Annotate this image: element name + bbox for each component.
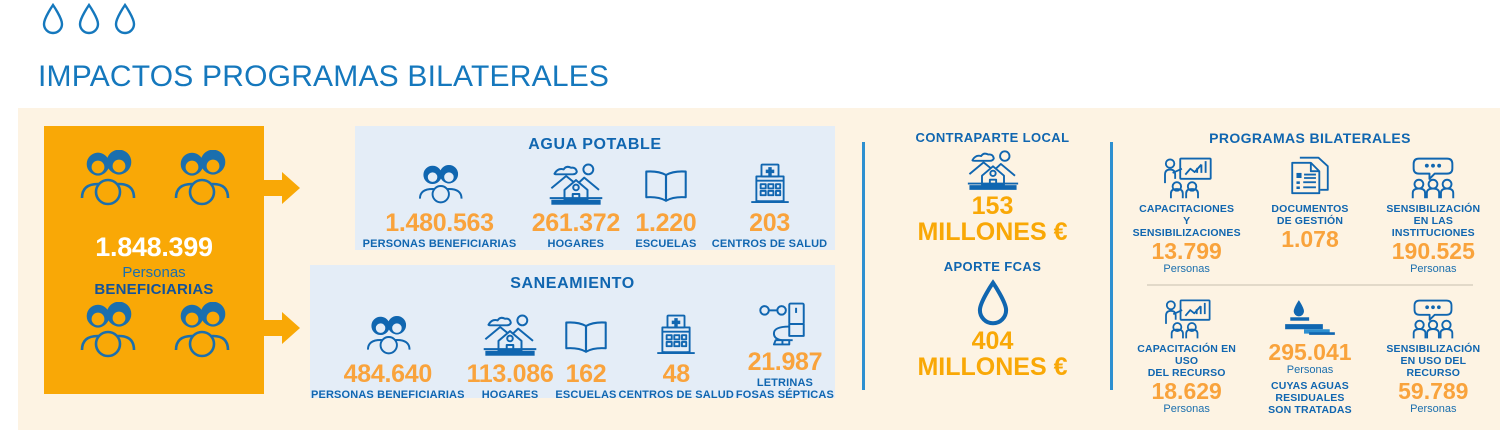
saneamiento-columns: 484.640 PERSONAS BENEFICIARIAS — [310, 299, 835, 402]
training-presentation-icon — [1159, 294, 1215, 340]
contraparte-unit: MILLONES € — [880, 219, 1105, 245]
family-people-icon — [162, 150, 240, 215]
stat-agua-hogares: 261.372 HOGARES — [532, 160, 620, 250]
speech-group-icon — [1406, 154, 1460, 200]
stat-label-line2: FOSAS SÉPTICAS — [736, 389, 834, 401]
open-book-icon — [642, 160, 690, 208]
aporte-amount: 404 — [880, 328, 1105, 354]
stat-value: 113.086 — [467, 361, 554, 388]
bilateral-value: 59.789 — [1398, 379, 1468, 403]
stat-label: PERSONAS BENEFICIARIAS — [363, 238, 517, 250]
panel-title-agua: AGUA POTABLE — [355, 136, 835, 154]
bilateral-value: 13.799 — [1151, 239, 1221, 263]
documents-icon — [1288, 154, 1332, 200]
label-line1: SENSIBILIZACIÓN — [1386, 343, 1480, 355]
bilateral-separator — [1147, 284, 1473, 286]
bilateral-column: PROGRAMAS BILATERALES — [1125, 130, 1495, 398]
aporte-unit: MILLONES € — [880, 354, 1105, 380]
contraparte-caption: CONTRAPARTE LOCAL — [880, 130, 1105, 145]
bilateral-unit: Personas — [1410, 263, 1456, 276]
stat-label: CENTROS DE SALUD — [618, 389, 733, 401]
arrow-right-icon — [264, 172, 300, 204]
label-line1: CAPACITACIÓN EN USO — [1137, 343, 1236, 367]
label-line1: SENSIBILIZACIÓN — [1386, 203, 1480, 215]
bilateral-value: 18.629 — [1151, 379, 1221, 403]
people-icons-row-bottom — [44, 302, 264, 367]
label-line2: SON TRATADAS — [1268, 404, 1352, 416]
divider-vertical-right — [1110, 142, 1113, 390]
bilateral-label: DOCUMENTOS DE GESTIÓN — [1271, 203, 1348, 227]
agua-columns: 1.480.563 PERSONAS BENEFICIARIAS — [355, 160, 835, 250]
beneficiaries-label-beneficiarias: BENEFICIARIAS — [44, 281, 264, 298]
stat-san-escuelas: 162 ESCUELAS — [555, 311, 616, 401]
open-book-icon — [562, 311, 610, 359]
label-line1: DOCUMENTOS — [1271, 203, 1348, 215]
bilateral-value: 190.525 — [1392, 239, 1475, 263]
stat-san-personas: 484.640 PERSONAS BENEFICIARIAS — [311, 311, 465, 401]
divider-vertical-left — [862, 142, 865, 390]
bilateral-title: PROGRAMAS BILATERALES — [1125, 130, 1495, 146]
bilateral-capacitacion-uso: CAPACITACIÓN EN USO DEL RECURSO 18.629 P… — [1128, 294, 1246, 416]
bilateral-label: CAPACITACIONES Y SENSIBILIZACIONES — [1128, 203, 1246, 239]
bilateral-sensibilizacion-uso: SENSIBILIZACIÓN EN USO DEL RECURSO 59.78… — [1374, 294, 1492, 416]
stat-label: HOGARES — [482, 389, 539, 401]
family-people-icon — [411, 160, 469, 208]
bilateral-unit: Personas — [1287, 364, 1333, 377]
bilateral-label: CAPACITACIÓN EN USO DEL RECURSO — [1128, 343, 1246, 379]
hospital-icon — [745, 160, 795, 208]
house-icon — [480, 311, 540, 359]
bilateral-label: CUYAS AGUAS RESIDUALES SON TRATADAS — [1251, 380, 1369, 416]
bilateral-capacitaciones: CAPACITACIONES Y SENSIBILIZACIONES 13.79… — [1128, 154, 1246, 276]
label-line2: EN LAS INSTITUCIONES — [1392, 215, 1475, 239]
stat-label: PERSONAS BENEFICIARIAS — [311, 389, 465, 401]
arrow-right-icon — [264, 312, 300, 344]
panel-saneamiento: SANEAMIENTO — [310, 265, 835, 398]
house-icon — [546, 160, 606, 208]
bilateral-unit: Personas — [1163, 263, 1209, 276]
bilateral-aguas-residuales: 295.041 Personas CUYAS AGUAS RESIDUALES … — [1251, 294, 1369, 416]
beneficiaries-number: 1.848.399 — [44, 232, 264, 263]
stat-value: 48 — [663, 361, 690, 388]
aporte-caption: APORTE FCAS — [880, 259, 1105, 274]
bilateral-unit: Personas — [1163, 403, 1209, 416]
beneficiaries-label-personas: Personas — [44, 264, 264, 281]
training-presentation-icon — [1159, 154, 1215, 200]
water-drop-icon — [76, 2, 102, 36]
people-icons-row-top — [44, 150, 264, 215]
bilateral-unit: Personas — [1410, 403, 1456, 416]
stat-value: 21.987 — [748, 349, 823, 376]
water-drop-icon — [40, 2, 66, 36]
stat-value: 1.220 — [635, 210, 696, 237]
bilateral-sensibilizacion: SENSIBILIZACIÓN EN LAS INSTITUCIONES 190… — [1374, 154, 1492, 276]
stat-san-salud: 48 CENTROS DE SALUD — [618, 311, 733, 401]
page-title: IMPACTOS PROGRAMAS BILATERALES — [38, 60, 609, 94]
family-people-icon — [68, 302, 146, 367]
stat-value: 484.640 — [344, 361, 432, 388]
toilet-icon — [756, 299, 814, 347]
speech-group-icon — [1406, 294, 1460, 340]
infographic-root: IMPACTOS PROGRAMAS BILATERALES — [0, 0, 1500, 430]
bilateral-label: SENSIBILIZACIÓN EN LAS INSTITUCIONES — [1374, 203, 1492, 239]
stat-san-letrinas: 21.987 LETRINAS FOSAS SÉPTICAS — [736, 299, 834, 402]
water-treatment-icon — [1280, 294, 1340, 340]
stat-label: CENTROS DE SALUD — [712, 238, 827, 250]
stat-value: 203 — [749, 210, 790, 237]
bilateral-documentos: DOCUMENTOS DE GESTIÓN 1.078 — [1251, 154, 1369, 251]
stat-san-hogares: 113.086 HOGARES — [467, 311, 554, 401]
bilateral-value: 295.041 — [1268, 340, 1351, 364]
water-drop-icon — [880, 278, 1105, 328]
label-line1: CAPACITACIONES — [1139, 203, 1234, 215]
bilateral-row-2: CAPACITACIÓN EN USO DEL RECURSO 18.629 P… — [1125, 294, 1495, 416]
stat-label: LETRINAS FOSAS SÉPTICAS — [736, 377, 834, 402]
stat-value: 261.372 — [532, 210, 620, 237]
contraparte-amount: 153 — [880, 193, 1105, 219]
label-line2: EN USO DEL RECURSO — [1400, 355, 1466, 379]
family-people-icon — [162, 302, 240, 367]
stat-value: 162 — [566, 361, 607, 388]
stat-label: HOGARES — [547, 238, 604, 250]
house-icon — [880, 149, 1105, 193]
stat-agua-escuelas: 1.220 ESCUELAS — [635, 160, 696, 250]
stat-label: ESCUELAS — [635, 238, 696, 250]
label-line2: Y SENSIBILIZACIONES — [1133, 215, 1241, 239]
beneficiaries-block: 1.848.399 Personas BENEFICIARIAS — [44, 126, 264, 394]
stat-label: ESCUELAS — [555, 389, 616, 401]
bilateral-label: SENSIBILIZACIÓN EN USO DEL RECURSO — [1374, 343, 1492, 379]
bilateral-value: 1.078 — [1281, 227, 1339, 251]
water-drop-icon — [112, 2, 138, 36]
hospital-icon — [651, 311, 701, 359]
stat-agua-personas: 1.480.563 PERSONAS BENEFICIARIAS — [363, 160, 517, 250]
water-drops-group — [40, 2, 138, 36]
panel-agua-potable: AGUA POTABLE — [355, 126, 835, 250]
family-people-icon — [359, 311, 417, 359]
funding-column: CONTRAPARTE LOCAL 153 MILLONES € APORTE … — [880, 130, 1105, 400]
stat-agua-salud: 203 CENTROS DE SALUD — [712, 160, 827, 250]
family-people-icon — [68, 150, 146, 215]
stat-label-line1: LETRINAS — [757, 377, 813, 389]
bilateral-row-1: CAPACITACIONES Y SENSIBILIZACIONES 13.79… — [1125, 154, 1495, 276]
label-line1: CUYAS AGUAS RESIDUALES — [1271, 380, 1349, 404]
panel-title-saneamiento: SANEAMIENTO — [310, 275, 835, 293]
stat-value: 1.480.563 — [385, 210, 494, 237]
